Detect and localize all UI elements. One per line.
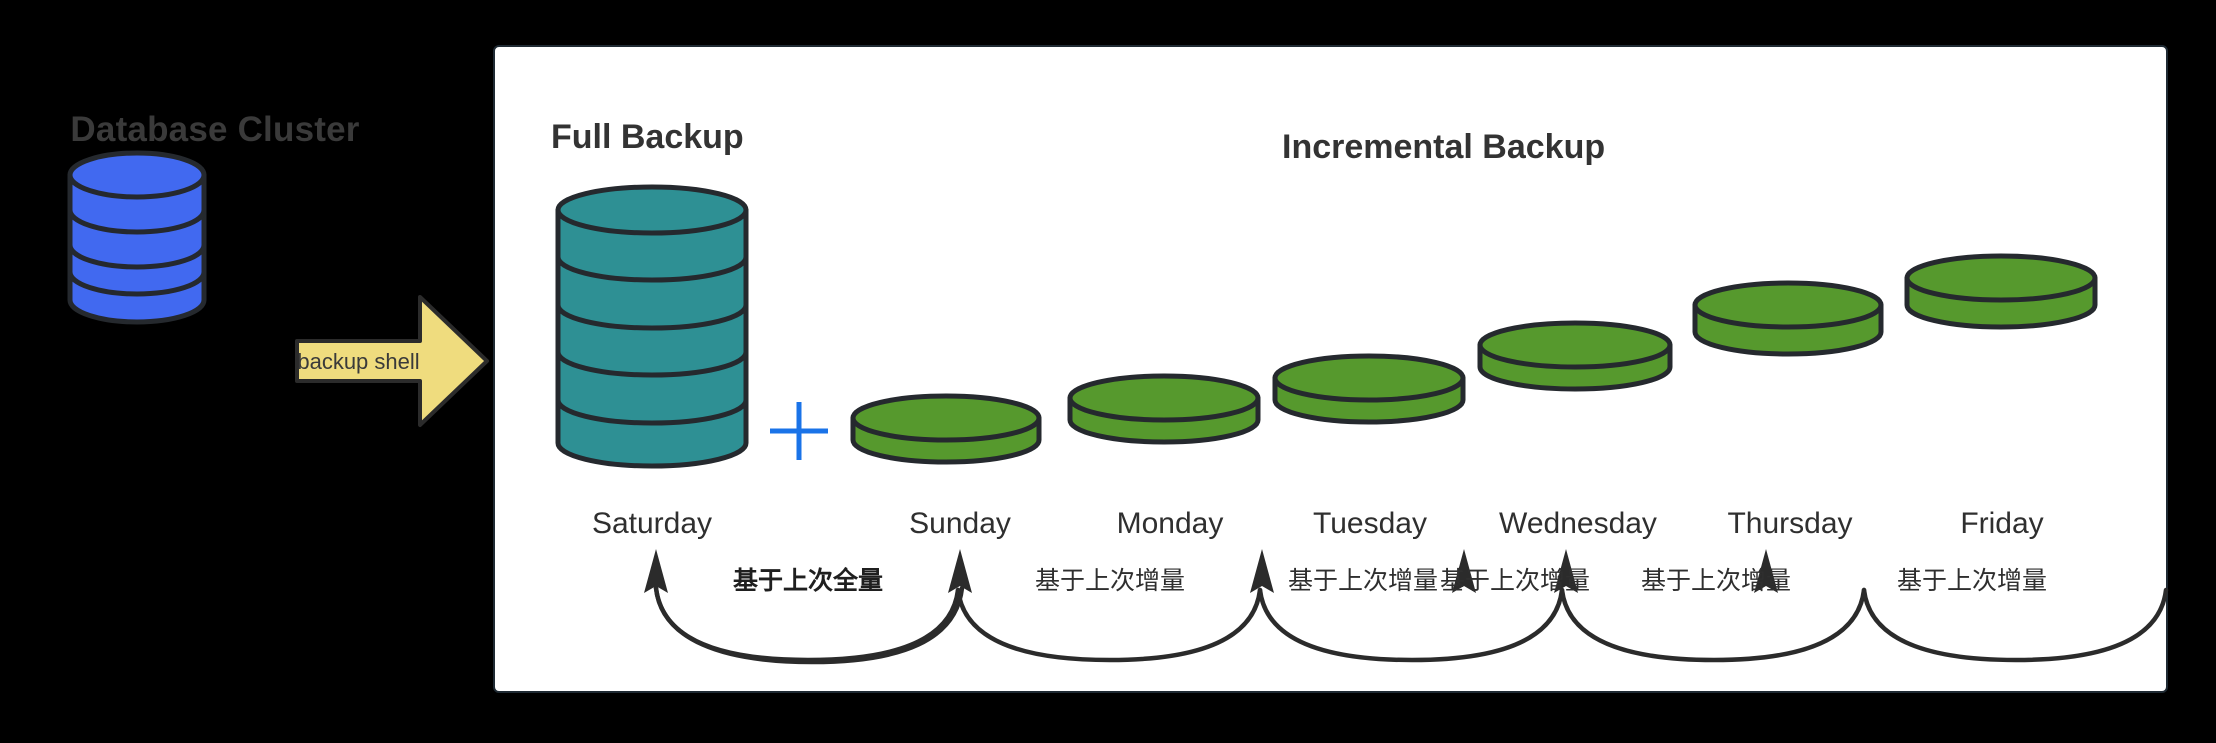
day-label-sunday: Sunday <box>909 507 1011 541</box>
day-label-thursday: Thursday <box>1727 507 1852 541</box>
day-label-tuesday: Tuesday <box>1313 507 1427 541</box>
relation-label-inc-4: 基于上次增量 <box>1641 561 1791 597</box>
full-backup-heading: Full Backup <box>551 118 744 157</box>
relation-label-inc-5: 基于上次增量 <box>1897 561 2047 597</box>
diagram-canvas: Database Cluster Full Backup Incremental… <box>0 0 2216 743</box>
day-label-saturday: Saturday <box>592 507 712 541</box>
relation-label-inc-1: 基于上次增量 <box>1035 561 1185 597</box>
plus-icon <box>766 398 832 464</box>
database-cluster-cylinder <box>70 153 204 322</box>
database-cluster-title: Database Cluster <box>55 110 375 150</box>
relation-label-inc-3: 基于上次增量 <box>1440 561 1590 597</box>
backup-shell-label: backup shell <box>297 343 420 381</box>
relation-label-full: 基于上次全量 <box>733 561 883 597</box>
relation-label-inc-2: 基于上次增量 <box>1288 561 1438 597</box>
incremental-backup-heading: Incremental Backup <box>1282 128 1605 167</box>
day-label-monday: Monday <box>1117 507 1224 541</box>
day-label-wednesday: Wednesday <box>1499 507 1657 541</box>
day-label-friday: Friday <box>1960 507 2043 541</box>
